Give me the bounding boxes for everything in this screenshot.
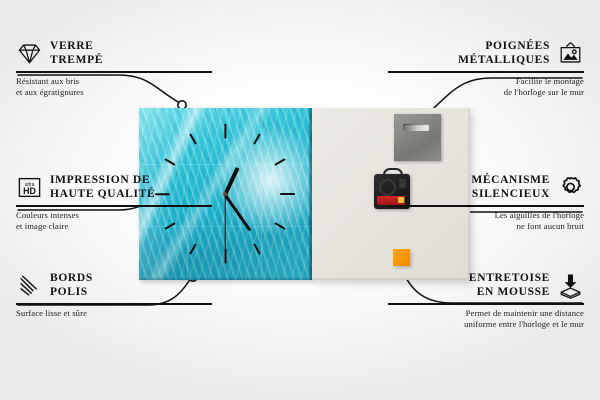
- callout-subtitle: Résistant aux bris et aux égratignures: [16, 76, 212, 99]
- press-layer-icon: [557, 272, 584, 299]
- callout-title: IMPRESSION DE HAUTE QUALITÉ: [50, 174, 155, 201]
- infographic-canvas: VERRE TREMPÉ Résistant aux bris et aux é…: [0, 0, 600, 400]
- hour-marker: [224, 249, 226, 264]
- panel-seam-h1: [139, 164, 312, 165]
- callout-title: POIGNÉES MÉTALLIQUES: [458, 40, 550, 67]
- callout-bords-polis: BORDS POLIS Surface lisse et sûre: [16, 272, 212, 319]
- hanging-frame-icon: [557, 40, 584, 67]
- gear-icon: [557, 174, 584, 201]
- callout-rule: [16, 71, 212, 73]
- callout-rule: [16, 303, 212, 305]
- callout-header: POIGNÉES MÉTALLIQUES: [388, 40, 584, 67]
- callout-title: ENTRETOISE EN MOUSSE: [469, 272, 550, 299]
- callout-mecanisme-silencieux: MÉCANISME SILENCIEUX Les aiguilles de l'…: [388, 174, 584, 232]
- callout-title: BORDS POLIS: [50, 272, 93, 299]
- panel-seam-v2: [261, 108, 262, 280]
- foam-spacer: [393, 249, 410, 266]
- callout-rule: [388, 205, 584, 207]
- ultra-hd-icon-bottom-label: HD: [23, 186, 36, 196]
- callout-rule: [388, 71, 584, 73]
- callout-rule: [16, 205, 212, 207]
- callout-verre-trempe: VERRE TREMPÉ Résistant aux bris et aux é…: [16, 40, 212, 98]
- second-hand: [224, 195, 225, 251]
- callout-poignees-metalliques: POIGNÉES MÉTALLIQUES Facilite le montage…: [388, 40, 584, 98]
- diamond-icon: [16, 40, 43, 67]
- callout-impression-haute-qualite: ultra HD IMPRESSION DE HAUTE QUALITÉ Cou…: [16, 174, 212, 232]
- callout-header: BORDS POLIS: [16, 272, 212, 299]
- center-pin: [223, 192, 227, 196]
- callout-title: MÉCANISME SILENCIEUX: [471, 174, 550, 201]
- callout-entretoise-en-mousse: ENTRETOISE EN MOUSSE Permet de maintenir…: [388, 272, 584, 330]
- hanger-slot: [403, 124, 429, 131]
- ultra-hd-icon: ultra HD: [16, 174, 43, 201]
- callout-header: ultra HD IMPRESSION DE HAUTE QUALITÉ: [16, 174, 212, 201]
- metal-hanger-plate: [394, 114, 441, 161]
- callout-subtitle: Couleurs intenses et image claire: [16, 210, 212, 233]
- callout-title: VERRE TREMPÉ: [50, 40, 103, 67]
- callout-header: MÉCANISME SILENCIEUX: [388, 174, 584, 201]
- callout-subtitle: Surface lisse et sûre: [16, 308, 212, 319]
- callout-rule: [388, 303, 584, 305]
- hour-marker: [280, 193, 295, 195]
- hour-marker: [224, 124, 226, 139]
- callout-subtitle: Les aiguilles de l'horloge ne font aucun…: [388, 210, 584, 233]
- callout-subtitle: Facilite le montage de l'horloge sur le …: [388, 76, 584, 99]
- callout-header: VERRE TREMPÉ: [16, 40, 212, 67]
- polished-edges-icon: [16, 272, 43, 299]
- callout-header: ENTRETOISE EN MOUSSE: [388, 272, 584, 299]
- callout-subtitle: Permet de maintenir une distance uniform…: [388, 308, 584, 331]
